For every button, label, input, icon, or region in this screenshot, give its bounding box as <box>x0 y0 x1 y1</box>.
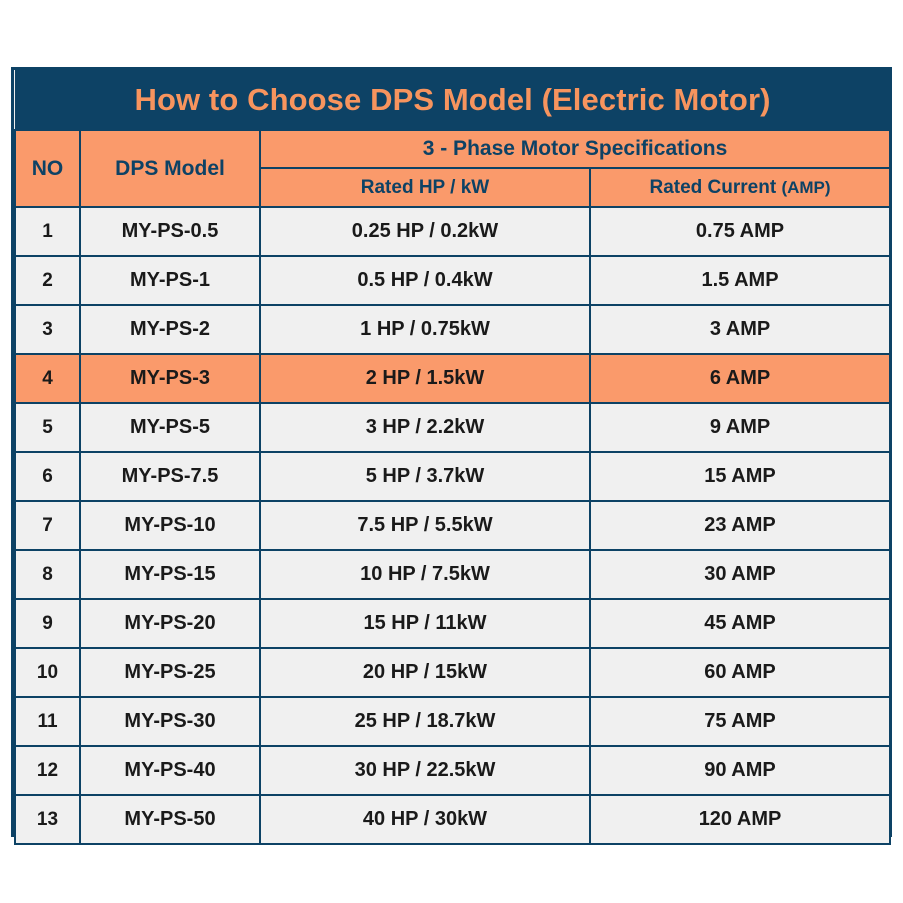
cell-rated-current: 90 AMP <box>590 746 890 795</box>
cell-dps-model: MY-PS-25 <box>80 648 260 697</box>
cell-no: 10 <box>15 648 80 697</box>
table-row[interactable]: 2MY-PS-10.5 HP / 0.4kW1.5 AMP <box>15 256 890 305</box>
cell-no: 9 <box>15 599 80 648</box>
cell-rated-current: 9 AMP <box>590 403 890 452</box>
cell-rated-current: 3 AMP <box>590 305 890 354</box>
table-row[interactable]: 6MY-PS-7.55 HP / 3.7kW15 AMP <box>15 452 890 501</box>
cell-rated-hp: 7.5 HP / 5.5kW <box>260 501 590 550</box>
table-row[interactable]: 7MY-PS-107.5 HP / 5.5kW23 AMP <box>15 501 890 550</box>
table-row[interactable]: 11MY-PS-3025 HP / 18.7kW75 AMP <box>15 697 890 746</box>
cell-rated-current: 60 AMP <box>590 648 890 697</box>
column-header-group-3phase: 3 - Phase Motor Specifications <box>260 130 890 168</box>
cell-dps-model: MY-PS-7.5 <box>80 452 260 501</box>
cell-rated-hp: 0.25 HP / 0.2kW <box>260 207 590 256</box>
cell-no: 8 <box>15 550 80 599</box>
cell-no: 7 <box>15 501 80 550</box>
cell-rated-hp: 25 HP / 18.7kW <box>260 697 590 746</box>
cell-rated-hp: 5 HP / 3.7kW <box>260 452 590 501</box>
cell-rated-hp: 1 HP / 0.75kW <box>260 305 590 354</box>
cell-no: 3 <box>15 305 80 354</box>
cell-rated-current: 6 AMP <box>590 354 890 403</box>
cell-dps-model: MY-PS-3 <box>80 354 260 403</box>
cell-rated-current: 15 AMP <box>590 452 890 501</box>
cell-rated-hp: 3 HP / 2.2kW <box>260 403 590 452</box>
rated-current-label: Rated Current <box>649 177 776 198</box>
page-root: How to Choose DPS Model (Electric Motor)… <box>0 0 903 903</box>
cell-dps-model: MY-PS-40 <box>80 746 260 795</box>
table-row[interactable]: 3MY-PS-21 HP / 0.75kW3 AMP <box>15 305 890 354</box>
cell-rated-current: 23 AMP <box>590 501 890 550</box>
cell-rated-hp: 20 HP / 15kW <box>260 648 590 697</box>
table-row[interactable]: 8MY-PS-1510 HP / 7.5kW30 AMP <box>15 550 890 599</box>
cell-dps-model: MY-PS-1 <box>80 256 260 305</box>
table-row[interactable]: 9MY-PS-2015 HP / 11kW45 AMP <box>15 599 890 648</box>
table-header: How to Choose DPS Model (Electric Motor)… <box>15 70 890 207</box>
cell-no: 6 <box>15 452 80 501</box>
cell-no: 13 <box>15 795 80 844</box>
cell-rated-hp: 10 HP / 7.5kW <box>260 550 590 599</box>
header-row-group: NO DPS Model 3 - Phase Motor Specificati… <box>15 130 890 168</box>
cell-dps-model: MY-PS-20 <box>80 599 260 648</box>
cell-rated-hp: 2 HP / 1.5kW <box>260 354 590 403</box>
cell-rated-current: 30 AMP <box>590 550 890 599</box>
cell-dps-model: MY-PS-0.5 <box>80 207 260 256</box>
dps-model-table: How to Choose DPS Model (Electric Motor)… <box>14 70 891 845</box>
cell-rated-current: 45 AMP <box>590 599 890 648</box>
table-row[interactable]: 10MY-PS-2520 HP / 15kW60 AMP <box>15 648 890 697</box>
cell-rated-current: 75 AMP <box>590 697 890 746</box>
cell-rated-hp: 30 HP / 22.5kW <box>260 746 590 795</box>
cell-rated-hp: 40 HP / 30kW <box>260 795 590 844</box>
column-header-no: NO <box>15 130 80 207</box>
cell-dps-model: MY-PS-2 <box>80 305 260 354</box>
column-header-rated-hp-kw: Rated HP / kW <box>260 168 590 207</box>
cell-rated-current: 120 AMP <box>590 795 890 844</box>
table-row[interactable]: 13MY-PS-5040 HP / 30kW120 AMP <box>15 795 890 844</box>
cell-rated-current: 1.5 AMP <box>590 256 890 305</box>
cell-no: 12 <box>15 746 80 795</box>
table-row[interactable]: 1MY-PS-0.50.25 HP / 0.2kW0.75 AMP <box>15 207 890 256</box>
title-row: How to Choose DPS Model (Electric Motor) <box>15 70 890 130</box>
cell-dps-model: MY-PS-50 <box>80 795 260 844</box>
cell-no: 5 <box>15 403 80 452</box>
cell-no: 4 <box>15 354 80 403</box>
cell-no: 11 <box>15 697 80 746</box>
cell-dps-model: MY-PS-10 <box>80 501 260 550</box>
cell-rated-current: 0.75 AMP <box>590 207 890 256</box>
table-row[interactable]: 12MY-PS-4030 HP / 22.5kW90 AMP <box>15 746 890 795</box>
cell-rated-hp: 0.5 HP / 0.4kW <box>260 256 590 305</box>
cell-dps-model: MY-PS-5 <box>80 403 260 452</box>
rated-current-unit: (AMP) <box>781 178 830 197</box>
cell-no: 1 <box>15 207 80 256</box>
dps-model-table-container: How to Choose DPS Model (Electric Motor)… <box>11 67 892 837</box>
table-row[interactable]: 4MY-PS-32 HP / 1.5kW6 AMP <box>15 354 890 403</box>
cell-dps-model: MY-PS-30 <box>80 697 260 746</box>
table-body: 1MY-PS-0.50.25 HP / 0.2kW0.75 AMP2MY-PS-… <box>15 207 890 844</box>
cell-rated-hp: 15 HP / 11kW <box>260 599 590 648</box>
page-title: How to Choose DPS Model (Electric Motor) <box>15 70 890 130</box>
cell-dps-model: MY-PS-15 <box>80 550 260 599</box>
table-row[interactable]: 5MY-PS-53 HP / 2.2kW9 AMP <box>15 403 890 452</box>
column-header-dps-model: DPS Model <box>80 130 260 207</box>
cell-no: 2 <box>15 256 80 305</box>
column-header-rated-current: Rated Current (AMP) <box>590 168 890 207</box>
